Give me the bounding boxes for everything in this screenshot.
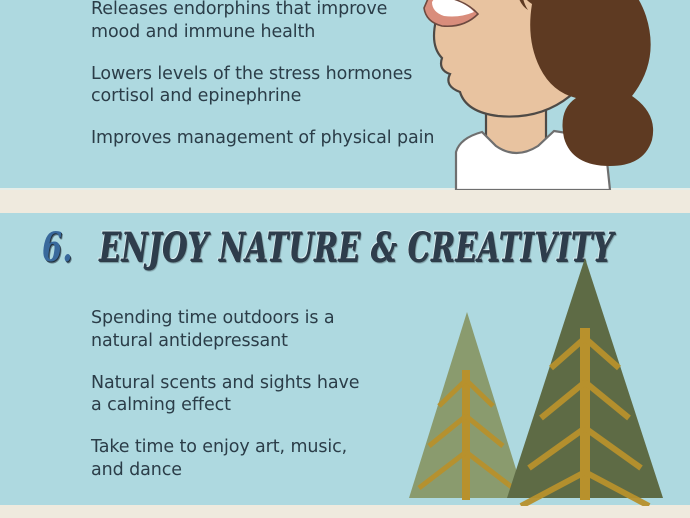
tree-left	[409, 312, 525, 500]
laughing-woman-illustration	[420, 0, 690, 190]
lower-section-text: Spending time outdoors is a natural anti…	[91, 307, 381, 482]
bottom-divider-band	[0, 505, 690, 518]
nature-paragraph-3: Take time to enjoy art, music, and dance	[91, 436, 381, 482]
benefit-paragraph-3: Improves management of physical pain	[91, 127, 441, 150]
section-divider-band	[0, 188, 690, 213]
nature-paragraph-1: Spending time outdoors is a natural anti…	[91, 307, 381, 353]
tree-left-trunk	[462, 370, 470, 500]
infographic-page: Releases endorphins that improve mood an…	[0, 0, 690, 518]
benefit-paragraph-2: Lowers levels of the stress hormones cor…	[91, 63, 441, 109]
benefit-paragraph-1: Releases endorphins that improve mood an…	[91, 0, 441, 44]
section-number: 6.	[42, 224, 73, 271]
nature-paragraph-2: Natural scents and sights have a calming…	[91, 372, 381, 418]
tree-right	[507, 258, 663, 506]
top-section-text: Releases endorphins that improve mood an…	[91, 0, 441, 150]
pine-trees-illustration	[395, 250, 690, 506]
